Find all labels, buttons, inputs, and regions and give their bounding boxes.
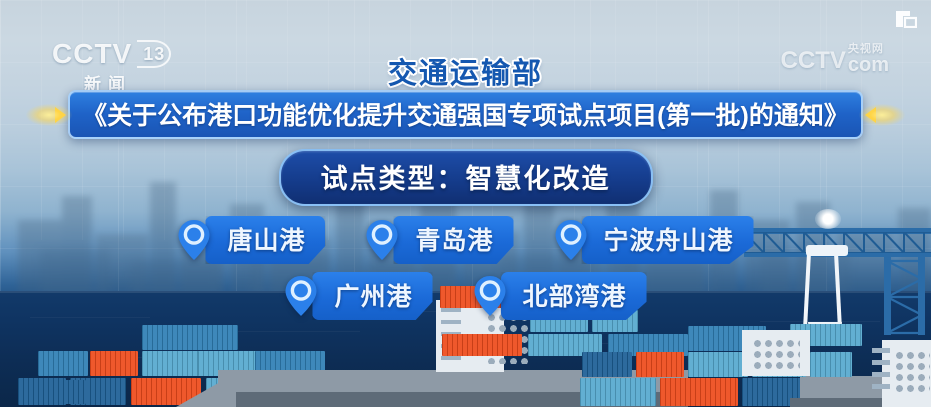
type-banner-label: 试点类型：智慧化改造 [321,164,611,194]
port-item-qingdao[interactable]: 青岛港 [365,216,513,264]
port-item-guangzhou[interactable]: 广州港 [284,272,432,320]
port-label: 北部湾港 [523,277,627,313]
notice-banner: 《关于公布港口功能优化提升交通强国专项试点项目(第一批)的通知》 [68,90,863,139]
port-label: 青岛港 [415,221,493,257]
banner-accent-right [863,93,931,137]
location-pin-icon [177,218,211,262]
port-label: 宁波舟山港 [604,221,734,257]
port-chip[interactable]: 广州港 [312,272,432,320]
port-item-beibuwan[interactable]: 北部湾港 [473,272,647,320]
notice-banner-row: 《关于公布港口功能优化提升交通强国专项试点项目(第一批)的通知》 [0,90,931,139]
location-pin-icon [554,218,588,262]
notice-banner-label: 《关于公布港口功能优化提升交通强国专项试点项目(第一批)的通知》 [82,96,849,132]
location-pin-icon [365,218,399,262]
port-list-row-2: 广州港 北部湾港 [0,272,931,320]
page-title: 交通运输部 [0,50,931,92]
type-banner-row: 试点类型：智慧化改造 [0,149,931,206]
port-chip[interactable]: 青岛港 [393,216,513,264]
port-item-ningbo-zhoushan[interactable]: 宁波舟山港 [554,216,754,264]
port-chip[interactable]: 宁波舟山港 [582,216,754,264]
port-chip[interactable]: 北部湾港 [501,272,647,320]
location-pin-icon [473,274,507,318]
broadcast-frame: CCTV 13 新闻 CCTV 央视网 com 交通运输部 《关于公布港口功能优… [0,0,931,407]
picture-in-picture-icon[interactable] [895,10,917,28]
port-chip[interactable]: 唐山港 [205,216,325,264]
location-pin-icon [284,274,318,318]
banner-accent-left [0,93,68,137]
port-list-row-1: 唐山港 青岛港 宁波舟山港 [0,216,931,264]
type-banner: 试点类型：智慧化改造 [279,149,653,206]
port-label: 唐山港 [227,221,305,257]
port-label: 广州港 [334,277,412,313]
port-item-tangshan[interactable]: 唐山港 [177,216,325,264]
